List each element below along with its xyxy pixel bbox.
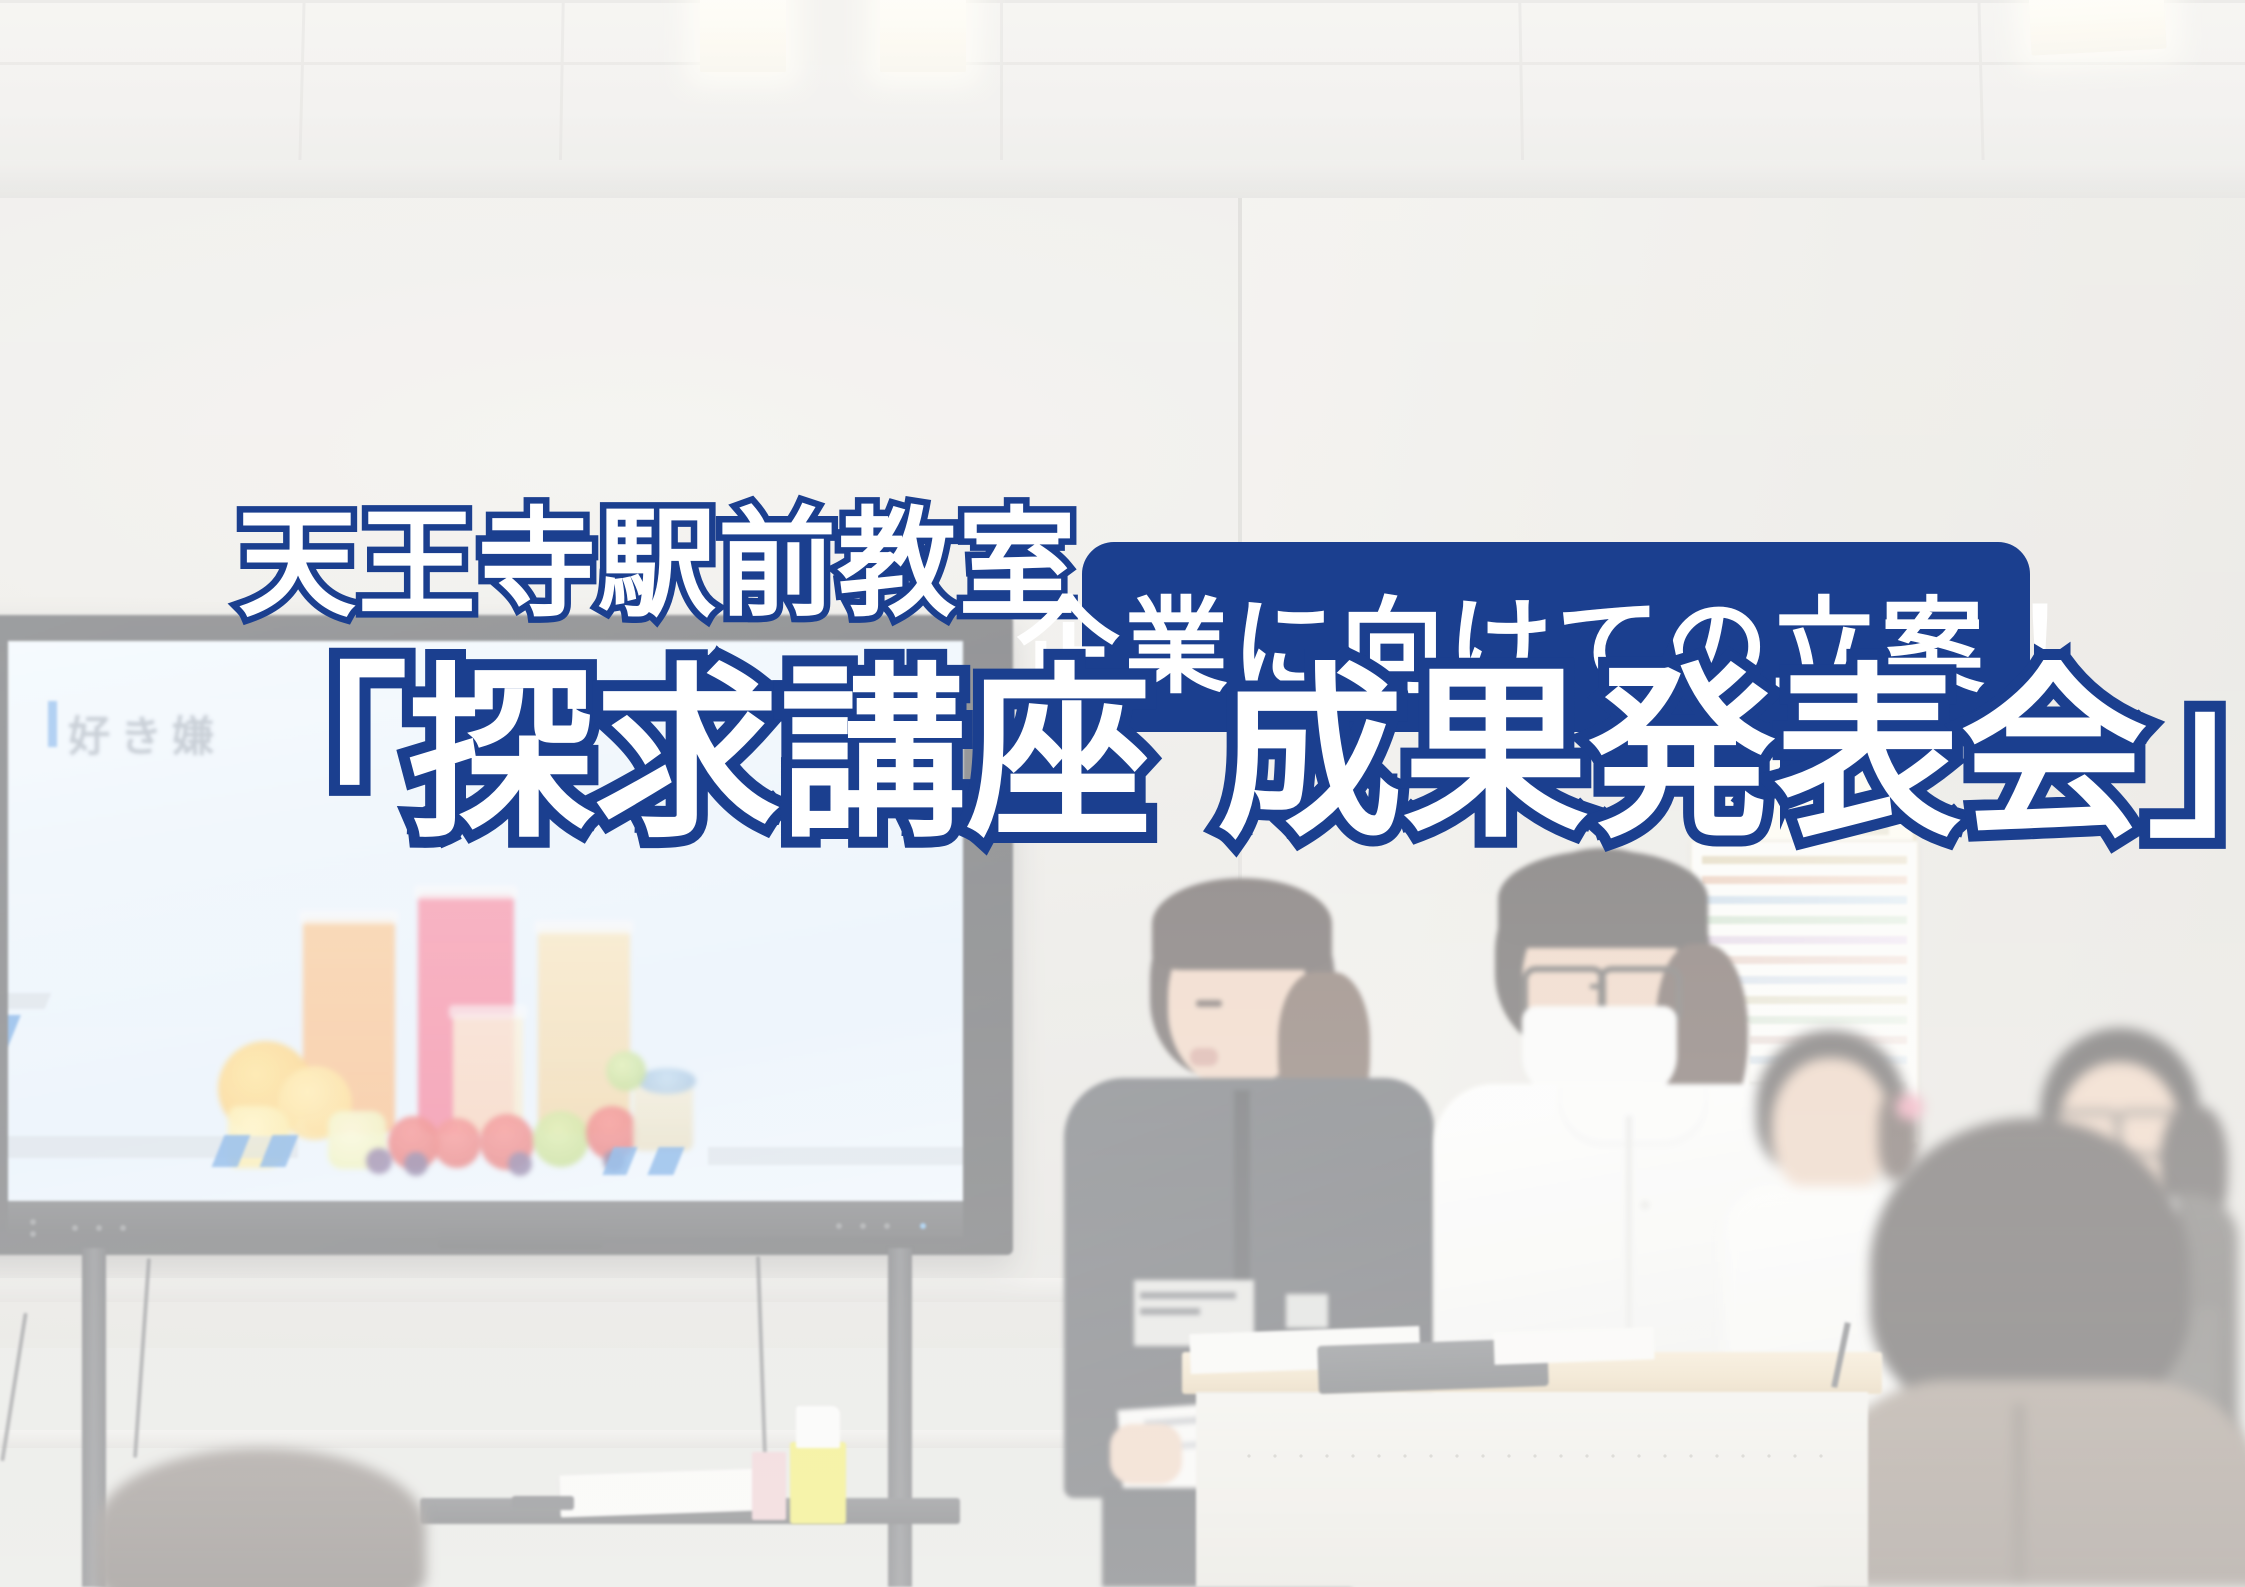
page-title: 「探求講座 成果発表会」 [222, 662, 2245, 848]
poster-image: 好き嫌 [0, 0, 2245, 1587]
text-overlay: 天王寺駅前教室 企業に向けての立案！ 「探求講座 成果発表会」 [0, 0, 2245, 1587]
classroom-name-subtitle: 天王寺駅前教室 [238, 505, 1078, 623]
